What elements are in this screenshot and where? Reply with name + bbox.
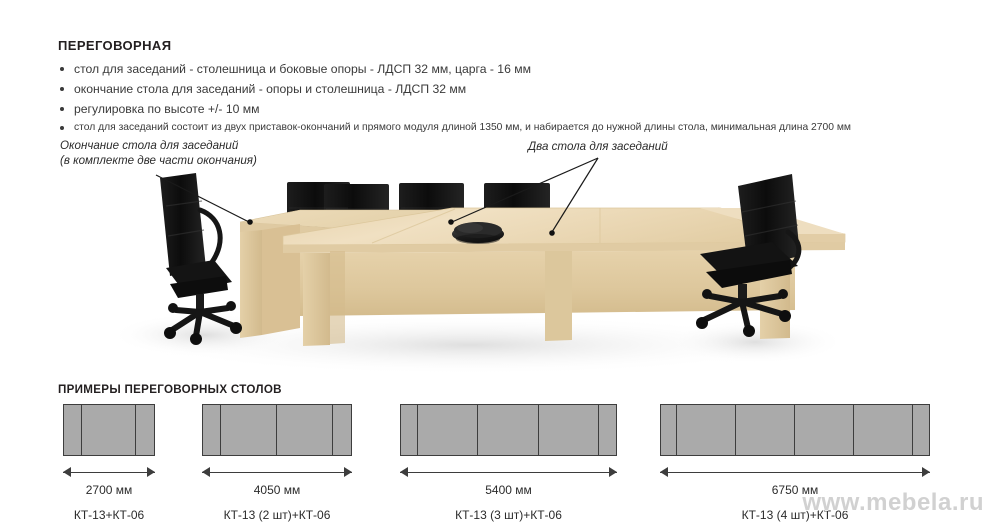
caster-icon [164, 327, 176, 339]
specification-block: ПЕРЕГОВОРНАЯ стол для заседаний - столеш… [58, 38, 958, 134]
bullet-icon [60, 126, 64, 130]
dimension-label: 4050 мм [202, 483, 352, 497]
table-module-segment [795, 405, 854, 455]
dimension-bar [202, 472, 352, 473]
product-spec-page: ПЕРЕГОВОРНАЯ стол для заседаний - столеш… [0, 0, 1000, 529]
arrow-right-icon [609, 467, 617, 477]
leader-dot-left [247, 219, 253, 225]
dimension-bar [660, 472, 930, 473]
dimension-line [202, 465, 352, 481]
product-code-label: КТ-13 (2 шт)+КТ-06 [202, 508, 352, 522]
bullet-icon [60, 87, 64, 91]
table-module-segment [203, 405, 221, 455]
table-module-segment [221, 405, 277, 455]
caster-icon [778, 289, 788, 299]
product-code-label: КТ-13 (3 шт)+КТ-06 [400, 508, 617, 522]
caster-icon [168, 303, 178, 313]
table-plan-shape [660, 404, 930, 456]
table-module-segment [913, 405, 929, 455]
caster-icon [696, 317, 708, 329]
table-module-segment [661, 405, 677, 455]
caster-icon [230, 322, 242, 334]
table-leg-mid [545, 251, 572, 341]
spec-item: регулировка по высоте +/- 10 мм [58, 102, 958, 116]
dimension-line [400, 465, 617, 481]
table-module-segment [539, 405, 600, 455]
dimension-line [660, 465, 930, 481]
floor-shadow-right [665, 320, 845, 364]
spec-item: окончание стола для заседаний - опоры и … [58, 82, 958, 96]
dimension-bar [63, 472, 155, 473]
watermark: www.mebela.ru [802, 489, 984, 517]
arrow-right-icon [922, 467, 930, 477]
caster-icon [226, 301, 236, 311]
table-module-segment [418, 405, 479, 455]
dimension-label: 2700 мм [63, 483, 155, 497]
caster-icon [702, 289, 712, 299]
bullet-icon [60, 67, 64, 71]
table-module-segment [333, 405, 351, 455]
table-plan-shape [63, 404, 155, 456]
spec-item-text: стол для заседаний состоит из двух прист… [74, 122, 851, 133]
table-module-segment [82, 405, 137, 455]
caster-icon [779, 310, 791, 322]
table-leg-left [303, 253, 330, 346]
dimension-label: 5400 мм [400, 483, 617, 497]
table-module-segment [599, 405, 616, 455]
examples-title: ПРИМЕРЫ ПЕРЕГОВОРНЫХ СТОЛОВ [58, 383, 282, 396]
arrow-left-icon [63, 467, 71, 477]
conference-microphone-icon [452, 222, 504, 244]
table-plan-shape [400, 404, 617, 456]
arrow-left-icon [400, 467, 408, 477]
example-diagram: 4050 мм КТ-13 (2 шт)+КТ-06 [202, 404, 352, 522]
spec-item: стол для заседаний состоит из двух прист… [58, 122, 958, 134]
specification-list: стол для заседаний - столешница и боковы… [58, 62, 958, 134]
conference-table-illustration [0, 150, 1000, 380]
table-module-segment [478, 405, 539, 455]
caster-icon [190, 333, 202, 345]
table-module-segment [736, 405, 795, 455]
arrow-left-icon [202, 467, 210, 477]
table-module-segment [401, 405, 418, 455]
product-code-label: КТ-13+КТ-06 [63, 508, 155, 522]
table-module-segment [677, 405, 736, 455]
arrow-right-icon [344, 467, 352, 477]
example-diagram: 2700 мм КТ-13+КТ-06 [63, 404, 155, 522]
table-module-segment [64, 405, 82, 455]
spec-item-text: стол для заседаний - столешница и боковы… [74, 62, 531, 76]
table-module-segment [136, 405, 154, 455]
chair-right [696, 174, 800, 337]
leader-dot-right-a [549, 230, 555, 236]
table-module-segment [277, 405, 333, 455]
spec-item: стол для заседаний - столешница и боковы… [58, 62, 958, 76]
spec-item-text: регулировка по высоте +/- 10 мм [74, 102, 260, 116]
arrow-left-icon [660, 467, 668, 477]
caster-icon [743, 325, 755, 337]
arrow-right-icon [147, 467, 155, 477]
table-plan-shape [202, 404, 352, 456]
dimension-line [63, 465, 155, 481]
page-title: ПЕРЕГОВОРНАЯ [58, 38, 958, 53]
spec-item-text: окончание стола для заседаний - опоры и … [74, 82, 466, 96]
dimension-bar [400, 472, 617, 473]
leader-dot-right-b [448, 219, 454, 225]
example-diagram: 5400 мм КТ-13 (3 шт)+КТ-06 [400, 404, 617, 522]
bullet-icon [60, 107, 64, 111]
table-module-segment [854, 405, 913, 455]
